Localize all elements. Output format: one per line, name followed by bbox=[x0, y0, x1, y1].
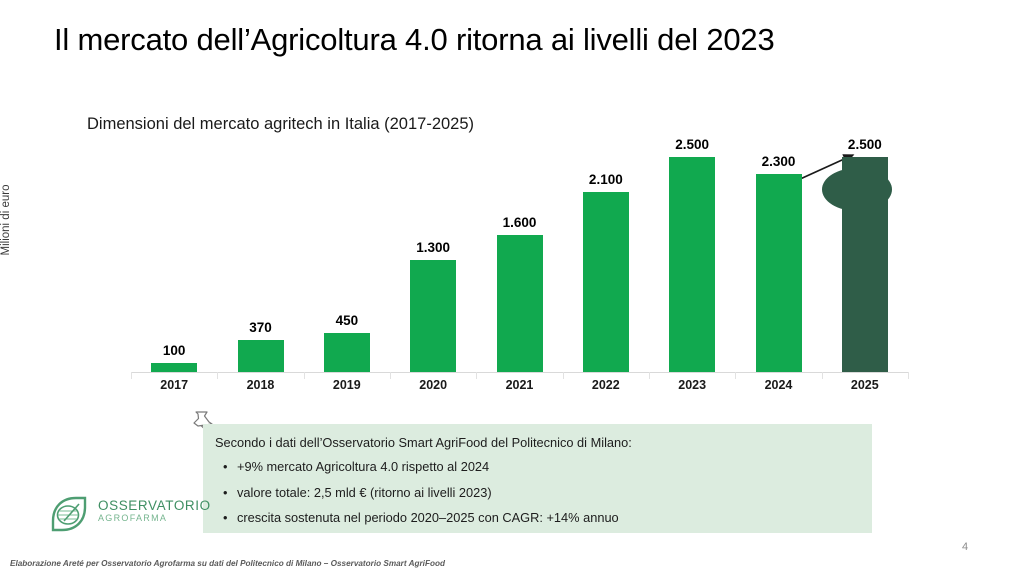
bar-2021 bbox=[497, 235, 543, 372]
bar-value-2025: 2.500 bbox=[848, 137, 882, 152]
bullet-marker: • bbox=[223, 458, 227, 475]
bullet-marker: • bbox=[223, 509, 227, 526]
x-axis-tick-label-2019: 2019 bbox=[304, 378, 390, 392]
list-item-label: +9% mercato Agricoltura 4.0 rispetto al … bbox=[237, 459, 489, 474]
bar-2023 bbox=[669, 157, 715, 372]
logo-wordmark: OSSERVATORIO AGROFARMA bbox=[98, 499, 211, 524]
leaf-circle-logo-icon bbox=[46, 491, 92, 537]
list-item-label: crescita sostenuta nel periodo 2020–2025… bbox=[237, 510, 619, 525]
bar-column-2022: 2.100 bbox=[583, 140, 629, 372]
insights-callout: Secondo i dati dell’Osservatorio Smart A… bbox=[203, 424, 872, 533]
x-axis-tick bbox=[908, 372, 909, 379]
bar-value-2024: 2.300 bbox=[762, 154, 796, 169]
bar-value-2018: 370 bbox=[249, 320, 272, 335]
bar-value-2019: 450 bbox=[336, 313, 359, 328]
x-axis-line bbox=[131, 372, 908, 373]
list-item-label: valore totale: 2,5 mld € (ritorno ai liv… bbox=[237, 485, 492, 500]
bar-value-2022: 2.100 bbox=[589, 172, 623, 187]
bar-2017 bbox=[151, 363, 197, 372]
list-item: • +9% mercato Agricoltura 4.0 rispetto a… bbox=[215, 458, 854, 475]
x-axis-tick-label-2023: 2023 bbox=[649, 378, 735, 392]
list-item: • valore totale: 2,5 mld € (ritorno ai l… bbox=[215, 484, 854, 501]
logo-subtitle: AGROFARMA bbox=[98, 514, 211, 524]
bar-2024 bbox=[756, 174, 802, 372]
bar-column-2017: 100 bbox=[151, 140, 197, 372]
bar-column-2024: 2.300 bbox=[756, 140, 802, 372]
x-axis-tick-label-2022: 2022 bbox=[563, 378, 649, 392]
bar-column-2021: 1.600 bbox=[497, 140, 543, 372]
bar-column-2020: 1.300 bbox=[410, 140, 456, 372]
x-axis-tick-label-2018: 2018 bbox=[217, 378, 303, 392]
x-axis-tick-label-2020: 2020 bbox=[390, 378, 476, 392]
bar-column-2019: 450 bbox=[324, 140, 370, 372]
y-axis-label: Milioni di euro bbox=[86, 210, 106, 320]
bar-value-2017: 100 bbox=[163, 343, 186, 358]
bar-value-2021: 1.600 bbox=[503, 215, 537, 230]
list-item: • crescita sostenuta nel periodo 2020–20… bbox=[215, 509, 854, 526]
bar-column-2025: 2.500 bbox=[842, 140, 888, 372]
page-number: 4 bbox=[962, 541, 968, 553]
bar-column-2018: 370 bbox=[238, 140, 284, 372]
osservatorio-agrofarma-logo: OSSERVATORIO AGROFARMA bbox=[46, 491, 196, 537]
chart-title: Dimensioni del mercato agritech in Itali… bbox=[87, 115, 474, 134]
agritech-market-bar-chart: Dimensioni del mercato agritech in Itali… bbox=[0, 0, 1024, 410]
x-axis-tick-label-2025: 2025 bbox=[822, 378, 908, 392]
bar-2025 bbox=[842, 157, 888, 372]
x-axis-tick-label-2024: 2024 bbox=[735, 378, 821, 392]
x-axis-tick-label-2017: 2017 bbox=[131, 378, 217, 392]
bullet-marker: • bbox=[223, 484, 227, 501]
callout-heading: Secondo i dati dell’Osservatorio Smart A… bbox=[215, 434, 854, 451]
bar-column-2023: 2.500 bbox=[669, 140, 715, 372]
bar-value-2023: 2.500 bbox=[675, 137, 709, 152]
x-axis-tick-label-2021: 2021 bbox=[476, 378, 562, 392]
bar-value-2020: 1.300 bbox=[416, 240, 450, 255]
bar-2019 bbox=[324, 333, 370, 372]
source-footnote: Elaborazione Areté per Osservatorio Agro… bbox=[10, 559, 445, 568]
y-axis-label-text: Milioni di euro bbox=[0, 165, 16, 275]
slide-canvas: Il mercato dell’Agricoltura 4.0 ritorna … bbox=[0, 0, 1024, 578]
bar-2022 bbox=[583, 192, 629, 372]
logo-name: OSSERVATORIO bbox=[98, 499, 211, 513]
bar-2020 bbox=[410, 260, 456, 372]
bar-2018 bbox=[238, 340, 284, 372]
